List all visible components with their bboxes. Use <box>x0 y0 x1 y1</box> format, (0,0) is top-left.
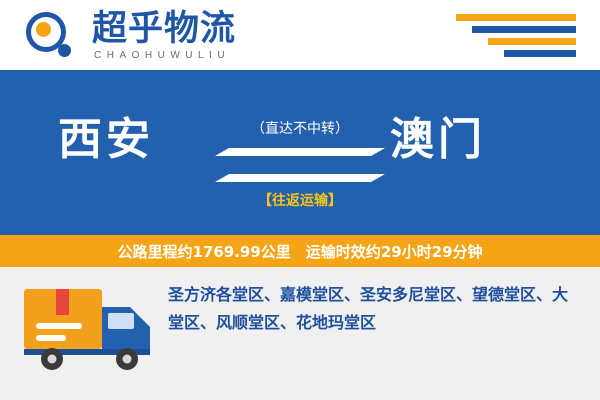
distance-value: 1769.99公里 <box>192 241 290 262</box>
coverage-section: 圣方济各堂区、嘉模堂区、圣安多尼堂区、望德堂区、大堂区、风顺堂区、花地玛堂区 <box>0 267 600 400</box>
delivery-truck-icon <box>22 277 162 377</box>
duration-value: 29小时29分钟 <box>381 241 483 262</box>
stripe-bar <box>488 38 576 45</box>
route-note-bottom: 【往返运输】 <box>0 190 600 210</box>
stripe-bar <box>504 50 576 57</box>
logo-accent-dot <box>58 44 71 57</box>
duration-label: 运输时效约 <box>306 241 381 262</box>
route-graphic: 西安 （直达不中转） 【往返运输】 澳门 <box>0 70 600 235</box>
logo-inner-dot <box>36 22 51 37</box>
route-info-bar: 公路里程约 1769.99公里 运输时效约 29小时29分钟 <box>0 235 600 267</box>
poster-header: 超乎物流 CHAOHUWULIU <box>0 0 600 70</box>
stripe-bar <box>472 26 576 33</box>
route-panel: 西安 （直达不中转） 【往返运输】 澳门 <box>0 70 600 235</box>
logistics-route-poster: 超乎物流 CHAOHUWULIU 西安 （直达不中转） 【往返运输】 澳门 公路… <box>0 0 600 400</box>
stripe-bar <box>456 14 576 21</box>
coverage-areas-text: 圣方济各堂区、嘉模堂区、圣安多尼堂区、望德堂区、大堂区、风顺堂区、花地玛堂区 <box>168 281 576 337</box>
distance-label: 公路里程约 <box>117 241 192 262</box>
brand-name-cn: 超乎物流 <box>92 10 236 48</box>
circle-logo-icon <box>26 12 74 60</box>
brand-name-en: CHAOHUWULIU <box>94 50 230 61</box>
info-bar-spacer <box>291 241 306 262</box>
destination-city: 澳门 <box>390 112 486 168</box>
double-arrow-icon <box>215 148 385 182</box>
route-note-top: （直达不中转） <box>0 118 600 138</box>
speed-stripes-icon <box>456 14 576 58</box>
